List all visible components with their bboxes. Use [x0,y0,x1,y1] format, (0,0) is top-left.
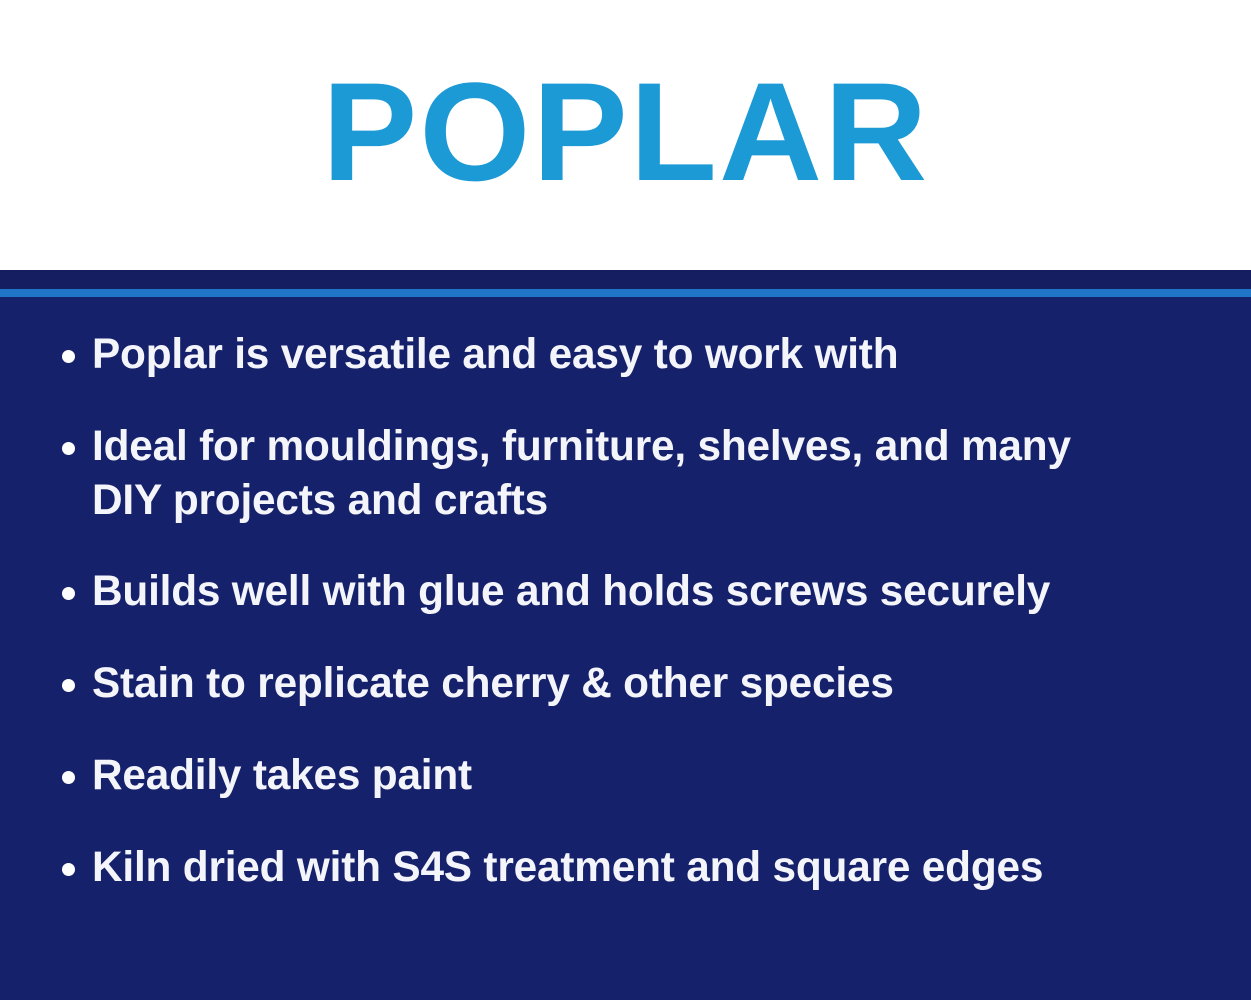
bullet-text: Builds well with glue and holds screws s… [92,565,1050,619]
bullet-dot-icon [62,587,75,600]
divider-accent-stripe [0,289,1251,297]
bullet-text: Ideal for mouldings, furniture, shelves,… [92,420,1077,528]
features-panel: Poplar is versatile and easy to work wit… [0,300,1251,1000]
poster-header: POPLAR [0,0,1251,270]
bullet-dot-icon [62,679,75,692]
bullet-dot-icon [62,863,75,876]
list-item: Builds well with glue and holds screws s… [62,565,1211,619]
list-item: Kiln dried with S4S treatment and square… [62,841,1211,895]
header-divider [0,270,1251,300]
poplar-info-poster: POPLAR Poplar is versatile and easy to w… [0,0,1251,1000]
bullet-text: Stain to replicate cherry & other specie… [92,657,894,711]
bullet-dot-icon [62,350,75,363]
bullet-dot-icon [62,442,75,455]
bullet-dot-icon [62,771,75,784]
bullet-text: Kiln dried with S4S treatment and square… [92,841,1043,895]
bullet-text: Poplar is versatile and easy to work wit… [92,328,898,382]
bullet-text: Readily takes paint [92,749,472,803]
feature-bullet-list: Poplar is versatile and easy to work wit… [62,328,1211,894]
divider-navy-band [0,270,1251,289]
page-title: POPLAR [322,62,929,208]
list-item: Ideal for mouldings, furniture, shelves,… [62,420,1211,528]
list-item: Poplar is versatile and easy to work wit… [62,328,1211,382]
list-item: Stain to replicate cherry & other specie… [62,657,1211,711]
list-item: Readily takes paint [62,749,1211,803]
